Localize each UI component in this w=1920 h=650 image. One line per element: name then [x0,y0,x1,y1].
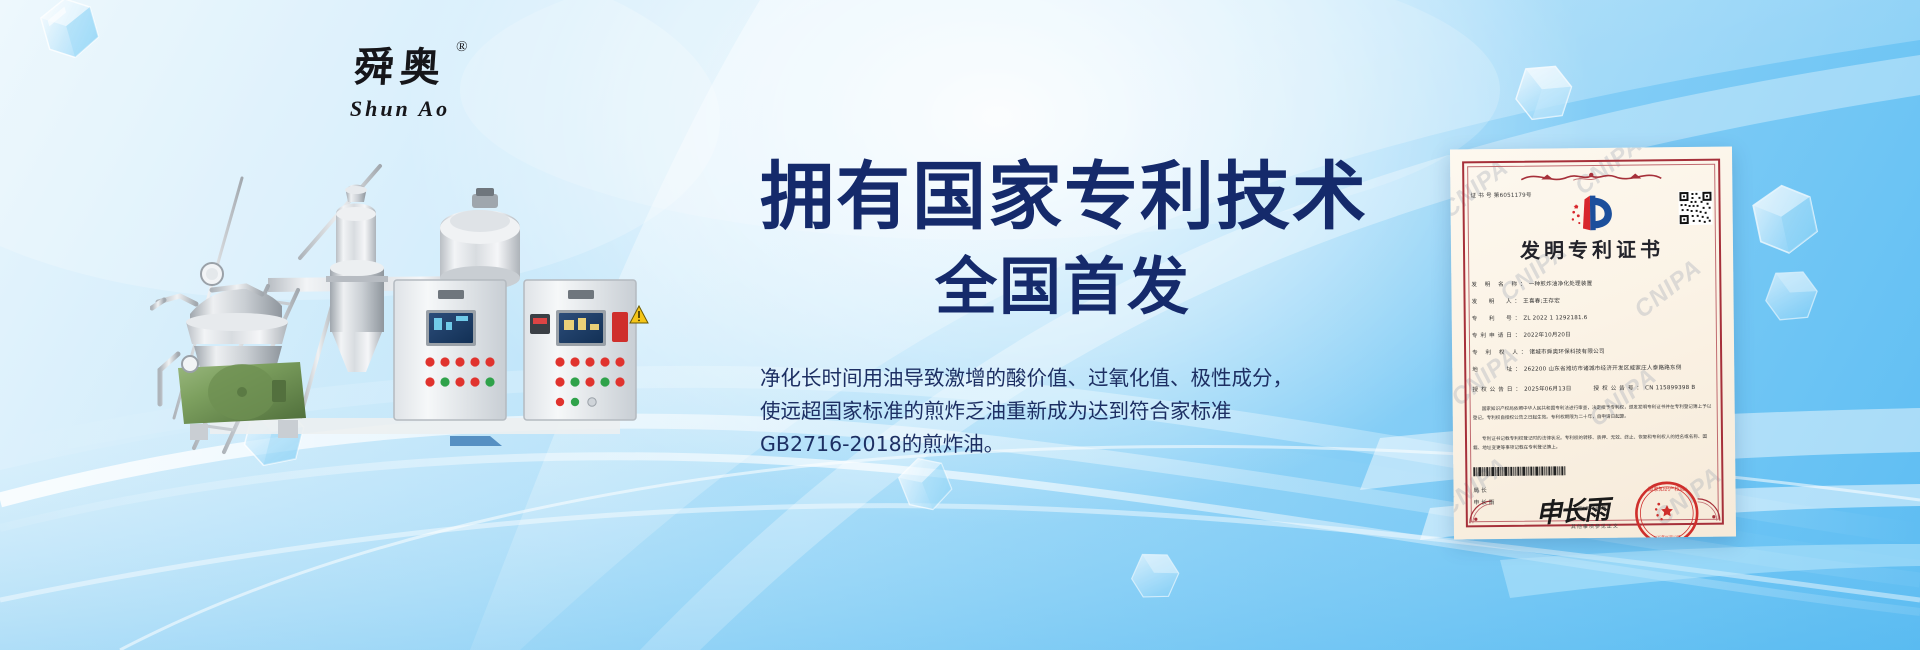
grant-no-value: CN 115899398 B [1645,385,1695,392]
grant-no-group: 授权公告号：CN 115899398 B [1593,383,1695,392]
certificate-fields: 发 明 名 称：一种煎炸油净化处理装置 发 明 人：王喜春;王存宏 专 利 号：… [1471,278,1714,393]
ice-cube-right-mid [1732,170,1832,270]
control-cabinet-right [524,280,648,420]
hero-copy: 拥有国家专利技术 全国首发 净化长时间用油导致激增的酸价值、过氧化值、极性成分，… [760,160,1380,462]
ice-cube-top-right [1496,47,1587,138]
field-value: 2022年10月20日 [1523,332,1571,338]
certificate-field-row: 发 明 人：王喜春;王存宏 [1472,295,1714,306]
svg-text:2025年06月13日: 2025年06月13日 [1653,535,1681,540]
grant-no-label: 授权公告号： [1593,385,1645,392]
field-label: 发 明 人： [1472,299,1524,306]
certificate-paragraph-2: 专利证书记载专利权登记时的法律状况。专利权的转移、质押、无效、终止、恢复和专利权… [1473,433,1715,454]
grant-date-value: 2025年06月13日 [1524,386,1572,392]
promo-banner: 舜奥® Shun Ao [0,0,1920,650]
certificate-grant-row: 授权公告日：2025年06月13日 授权公告号：CN 115899398 B [1472,382,1714,393]
registered-trademark-icon: ® [456,40,468,55]
certificate-paragraph-1: 国家知识产权局依照中华人民共和国专利法进行审查，决定授予专利权，颁发发明专利证书… [1473,402,1715,423]
reaction-tank-large [440,188,520,290]
brand-logo: 舜奥® Shun Ao [330,48,470,122]
ice-cube-right-low [1747,253,1832,338]
control-cabinet-left [394,280,506,420]
field-label: 发 明 名 称： [1471,282,1528,289]
grant-date-group: 授权公告日：2025年06月13日 [1472,384,1571,393]
field-value: ZL 2022 1 1292181.6 [1523,315,1587,322]
field-label: 地 址： [1472,367,1524,374]
field-label: 专利申请日： [1472,333,1524,340]
certificate-field-row: 发 明 名 称：一种煎炸油净化处理装置 [1471,278,1713,289]
certificate-title: 发明专利证书 [1471,233,1713,265]
ice-cube-center-low [1113,535,1192,614]
certificate-qr-code [1678,191,1712,225]
certificate-field-row: 专 利 权 人：诸城市舜奥环保科技有限公司 [1472,346,1714,357]
certificate-flourish [1470,169,1712,188]
field-value: 262200 山东省潍坊市诸城市经济开发区威家庄人泰路路东侧 [1524,365,1682,373]
certificate-field-row: 专利申请日：2022年10月20日 [1472,329,1714,340]
filter-column [326,260,388,372]
certificate-field-row: 地 址：262200 山东省潍坊市诸城市经济开发区威家庄人泰路路东侧 [1472,363,1714,376]
ice-cube-top-left [21,0,113,75]
headline-secondary: 全国首发 [760,256,1380,318]
certificate-barcode [1473,465,1715,477]
grant-date-label: 授权公告日： [1472,386,1524,393]
body-description: 净化长时间用油导致激增的酸价值、过氧化值、极性成分，使远超国家标准的煎炸乏油重新… [760,362,1300,462]
brand-logo-chinese: 舜奥® [353,48,448,88]
brand-logo-chinese-text: 舜奥 [352,45,447,90]
certificate-content: 证 书 号 第6051179号 [1450,147,1736,540]
patent-certificate: CNIPA CNIPA CNIPA CNIPA CNIPA CNIPA CNIP… [1450,147,1736,540]
field-label: 专 利 权 人： [1472,350,1529,357]
field-value: 王喜春;王存宏 [1523,298,1560,304]
machine-illustration [150,118,660,468]
field-value: 诸城市舜奥环保科技有限公司 [1529,349,1604,356]
headline-primary: 拥有国家专利技术 [760,160,1380,234]
field-label: 专 利 号： [1472,316,1524,323]
certificate-field-row: 专 利 号：ZL 2022 1 1292181.6 [1472,312,1714,323]
field-value: 一种煎炸油净化处理装置 [1529,281,1593,288]
